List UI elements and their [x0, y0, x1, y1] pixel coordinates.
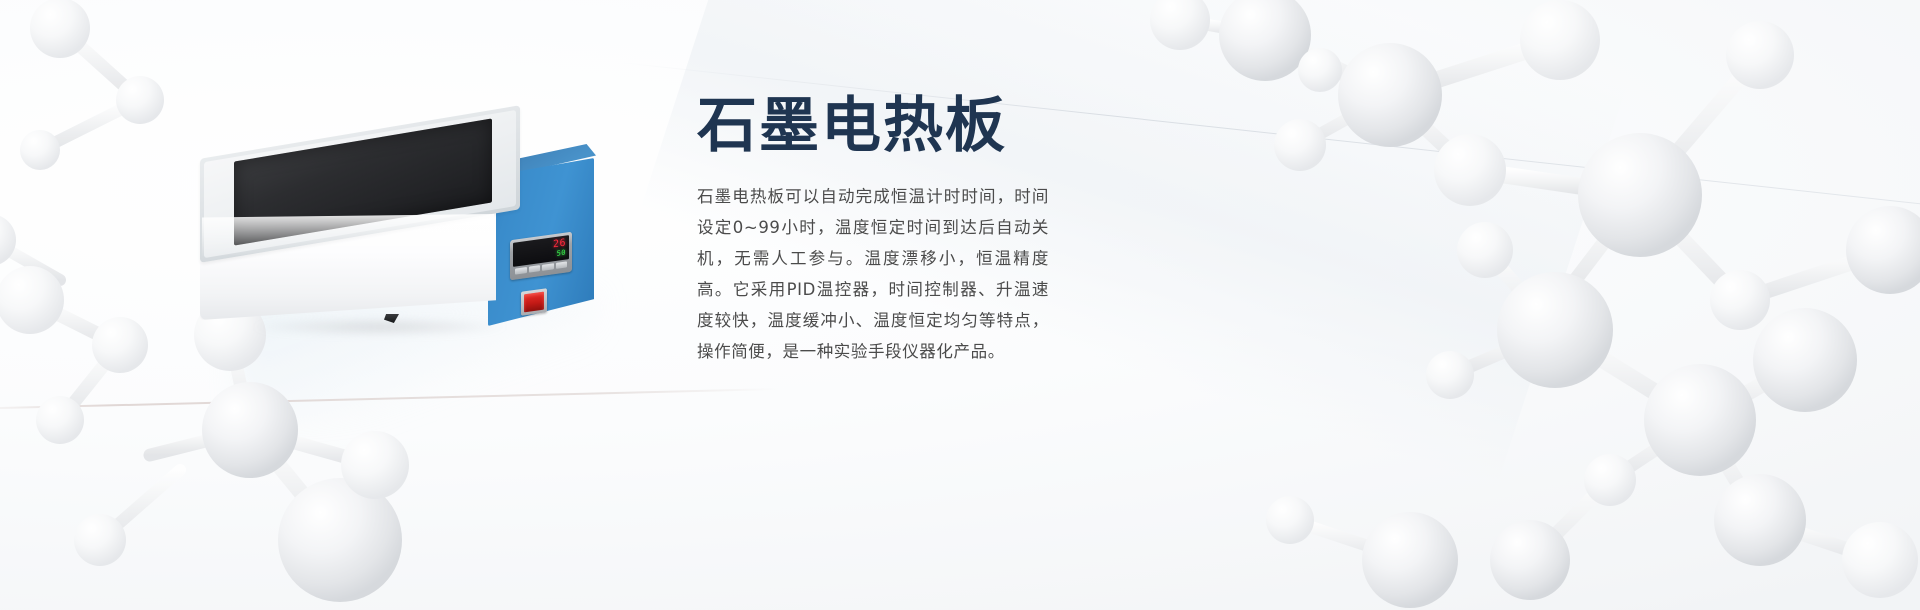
power-switch-rocker: [524, 292, 544, 313]
product-banner: 26 50 石墨电热板 石墨电热板可以自动完成恒温计时时间，时间设定0~99小时…: [0, 0, 1920, 610]
controller-key-set[interactable]: [515, 267, 527, 275]
power-switch-button[interactable]: [521, 288, 547, 316]
banner-text-block: 石墨电热板 石墨电热板可以自动完成恒温计时时间，时间设定0~99小时，温度恒定时…: [697, 93, 1057, 367]
controller-key-shift[interactable]: [529, 265, 541, 273]
controller-key-down[interactable]: [542, 263, 554, 271]
product-image-graphite-hot-plate: 26 50: [178, 118, 598, 368]
product-description: 石墨电热板可以自动完成恒温计时时间，时间设定0~99小时，温度恒定时间到达后自动…: [697, 181, 1049, 367]
controller-key-up[interactable]: [556, 261, 568, 269]
page-title: 石墨电热板: [697, 93, 1057, 159]
